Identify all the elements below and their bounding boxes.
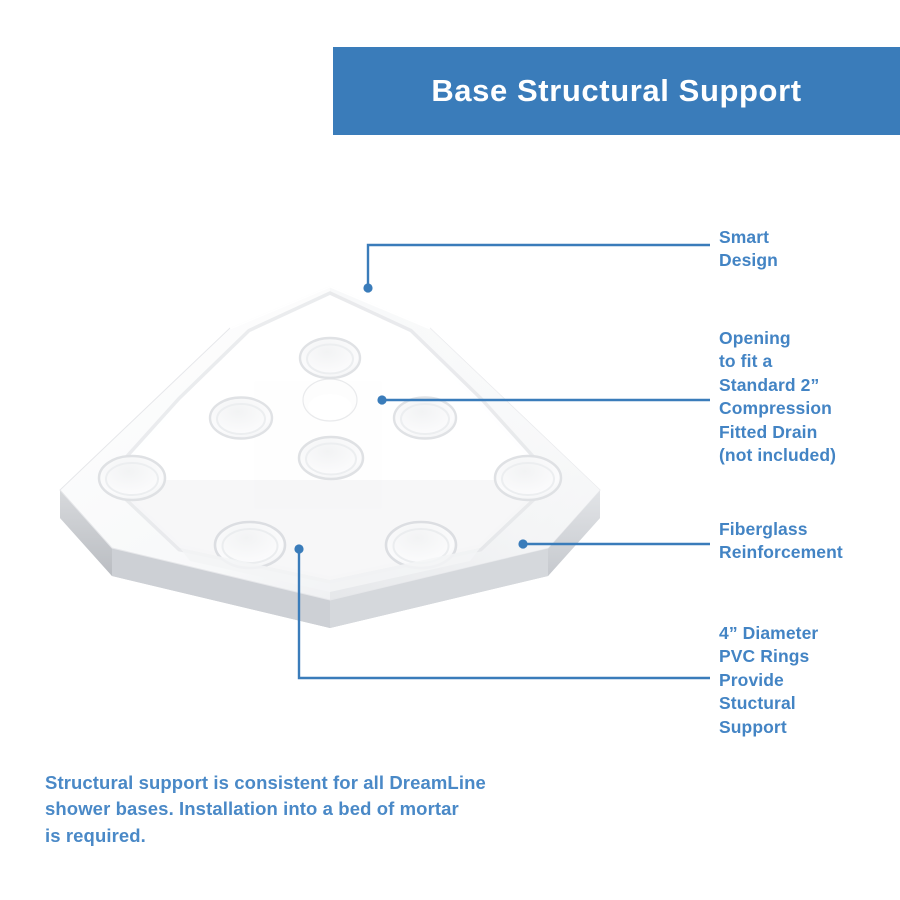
page-title: Base Structural Support [431,73,801,109]
pvc-ring [99,456,165,500]
callout-pvc-rings: 4” Diameter PVC Rings Provide Stuctural … [719,622,818,739]
bottom-caption-line-3: is required. [45,823,486,849]
product-illustration [0,280,700,680]
callout-pvc-rings-line-5: Support [719,716,818,739]
callout-pvc-rings-line-2: PVC Rings [719,645,818,668]
callout-pvc-rings-line-3: Provide [719,669,818,692]
callout-fiberglass-line-1: Fiberglass [719,518,843,541]
header-banner: Base Structural Support [333,47,900,135]
callout-pvc-rings-line-1: 4” Diameter [719,622,818,645]
callout-smart-design: Smart Design [719,226,778,273]
drain-opening [303,379,357,421]
callout-fiberglass-line-2: Reinforcement [719,541,843,564]
bottom-caption-line-2: shower bases. Installation into a bed of… [45,796,486,822]
callout-drain-opening-line-5: Fitted Drain [719,421,836,444]
callout-drain-opening-line-6: (not included) [719,444,836,467]
callout-drain-opening-line-4: Compression [719,397,836,420]
bottom-caption: Structural support is consistent for all… [45,770,486,849]
callout-drain-opening-line-1: Opening [719,327,836,350]
callout-drain-opening-line-3: Standard 2” [719,374,836,397]
pvc-ring [394,398,456,439]
pvc-ring [299,437,363,479]
product-diagram-page: Base Structural Support [0,0,900,900]
callout-fiberglass-reinforcement: Fiberglass Reinforcement [719,518,843,565]
callout-smart-design-line-2: Design [719,249,778,272]
pvc-ring [300,338,360,378]
pvc-ring [495,456,561,500]
pvc-ring [210,398,272,439]
bottom-caption-line-1: Structural support is consistent for all… [45,770,486,796]
callout-drain-opening-line-2: to fit a [719,350,836,373]
callout-smart-design-line-1: Smart [719,226,778,249]
callout-drain-opening: Opening to fit a Standard 2” Compression… [719,327,836,468]
callout-pvc-rings-line-4: Stuctural [719,692,818,715]
